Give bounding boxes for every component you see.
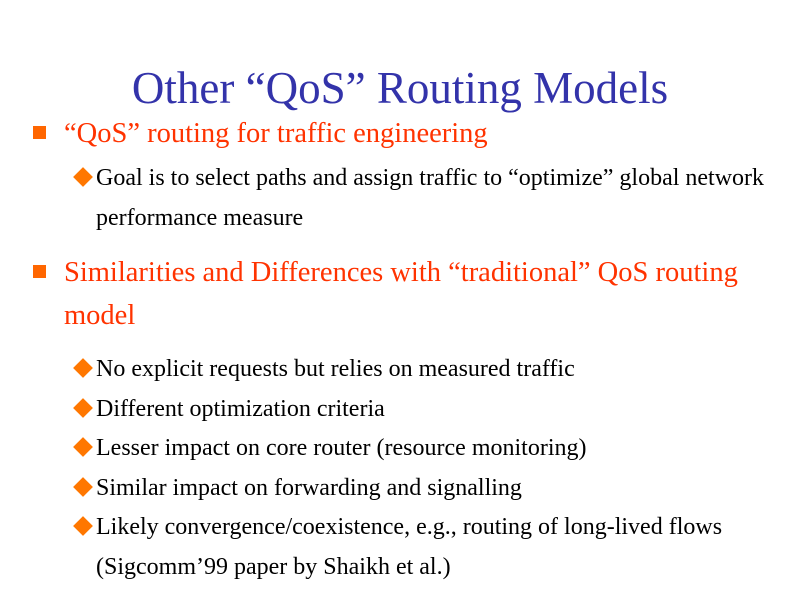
bullet-level2-group: No explicit requests but relies on measu… [0,350,800,587]
filled-diamond-bullet-icon [73,437,93,457]
bullet-level1-item: “QoS” routing for traffic engineering [0,112,800,155]
slide-body: “QoS” routing for traffic engineering Go… [0,112,800,587]
filled-diamond-bullet-icon [73,167,93,187]
slide-title: Other “QoS” Routing Models [0,62,800,114]
filled-diamond-bullet-icon [73,398,93,418]
filled-square-bullet-icon [33,265,46,278]
filled-diamond-bullet-icon [73,516,93,536]
bullet-level2-label: Goal is to select paths and assign traff… [96,159,776,238]
filled-square-bullet-icon [33,126,46,139]
bullet-level2-item: Different optimization criteria [0,390,800,430]
bullet-level2-item: Lesser impact on core router (resource m… [0,429,800,469]
bullet-level2-item: No explicit requests but relies on measu… [0,350,800,390]
bullet-level2-group: Goal is to select paths and assign traff… [0,159,800,238]
bullet-level2-item: Likely convergence/coexistence, e.g., ro… [0,508,800,587]
bullet-level2-item: Goal is to select paths and assign traff… [0,159,800,238]
bullet-level2-label: Similar impact on forwarding and signall… [96,469,776,509]
filled-diamond-bullet-icon [73,477,93,497]
bullet-level2-label: No explicit requests but relies on measu… [96,350,776,390]
bullet-level1-item: Similarities and Differences with “tradi… [0,251,800,337]
bullet-level1-label: “QoS” routing for traffic engineering [64,112,778,155]
bullet-level2-label: Lesser impact on core router (resource m… [96,429,776,469]
group-spacer [0,238,800,251]
group-spacer [0,341,800,350]
bullet-level2-label: Likely convergence/coexistence, e.g., ro… [96,508,776,587]
bullet-level1-label: Similarities and Differences with “tradi… [64,251,778,337]
bullet-level2-label: Different optimization criteria [96,390,776,430]
bullet-level2-item: Similar impact on forwarding and signall… [0,469,800,509]
presentation-slide: Other “QoS” Routing Models “QoS” routing… [0,0,800,600]
filled-diamond-bullet-icon [73,358,93,378]
